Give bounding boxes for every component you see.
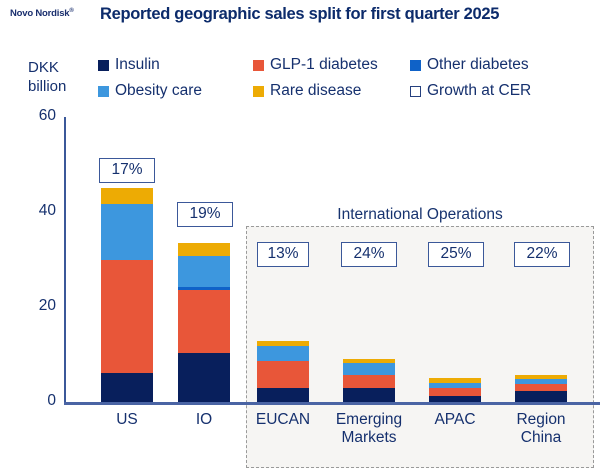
x-axis-line: [64, 402, 600, 405]
international-operations-title: International Operations: [246, 206, 594, 224]
bar-segment-obesity-care: [178, 256, 230, 287]
x-label-apac: APAC: [407, 411, 503, 429]
bar-segment-rare-disease: [101, 188, 153, 204]
bar-emerging-markets[interactable]: [343, 359, 395, 403]
bar-segment-insulin: [101, 373, 153, 403]
bar-us[interactable]: [101, 188, 153, 403]
y-tick-60: 60: [22, 107, 56, 125]
y-tick-40: 40: [22, 202, 56, 220]
y-tick-0: 0: [22, 392, 56, 410]
y-tick-20: 20: [22, 297, 56, 315]
growth-badge-eucan: 13%: [257, 242, 309, 267]
bar-segment-obesity-care: [101, 204, 153, 260]
x-label-line1: Region: [493, 411, 589, 429]
bar-region-china[interactable]: [515, 375, 567, 403]
bar-segment-obesity-care: [257, 346, 309, 361]
x-label-line2: Markets: [321, 429, 417, 447]
x-label-line1: EUCAN: [235, 411, 331, 429]
bar-segment-glp1-diabetes: [178, 290, 230, 353]
bar-segment-insulin: [178, 353, 230, 403]
x-label-line1: Emerging: [321, 411, 417, 429]
bar-apac[interactable]: [429, 378, 481, 403]
chart-plot-area: International Operations 17% 19% 13% 24%: [64, 0, 600, 475]
growth-badge-us: 17%: [99, 158, 155, 183]
x-label-line2: China: [493, 429, 589, 447]
bar-io[interactable]: [178, 243, 230, 403]
x-label-line1: APAC: [407, 411, 503, 429]
bar-segment-insulin: [343, 388, 395, 403]
bar-segment-glp1-diabetes: [515, 384, 567, 391]
bar-segment-glp1-diabetes: [101, 260, 153, 373]
bar-eucan[interactable]: [257, 341, 309, 403]
x-label-eucan: EUCAN: [235, 411, 331, 429]
x-label-emerging-markets: Emerging Markets: [321, 411, 417, 447]
bar-segment-glp1-diabetes: [343, 375, 395, 388]
bar-segment-rare-disease: [178, 243, 230, 256]
growth-badge-region-china: 22%: [514, 242, 570, 267]
growth-badge-emerging-markets: 24%: [341, 242, 397, 267]
bar-segment-glp1-diabetes: [257, 361, 309, 388]
x-label-region-china: Region China: [493, 411, 589, 447]
growth-badge-io: 19%: [177, 202, 233, 227]
bar-segment-insulin: [257, 388, 309, 403]
bar-segment-glp1-diabetes: [429, 388, 481, 396]
growth-badge-apac: 25%: [428, 242, 484, 267]
y-axis-ticks: 60 40 20 0: [22, 0, 56, 475]
bar-segment-obesity-care: [343, 363, 395, 375]
